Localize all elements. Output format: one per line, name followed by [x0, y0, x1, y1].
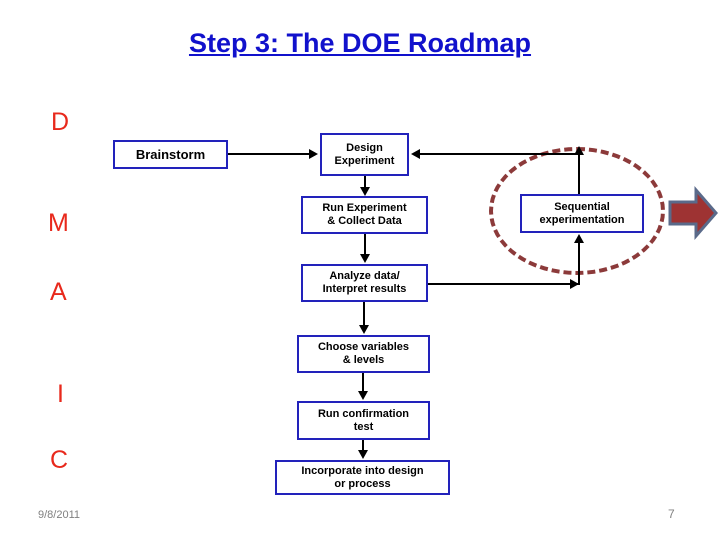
connector-brainstorm-to-design: [228, 153, 310, 155]
connector-analyze-to-loop-horizontal: [428, 283, 580, 285]
flow-box-analyze-data-line1: Analyze data/: [319, 270, 411, 283]
arrowhead-confirmation-to-incorporate: [358, 450, 368, 459]
phase-letter-improve: I: [57, 382, 64, 407]
flow-box-design-experiment-line1: Design: [331, 142, 399, 155]
arrowhead-brainstorm-to-design: [309, 149, 318, 159]
flow-box-design-experiment-line2: Experiment: [331, 155, 399, 168]
flow-box-choose-variables-line1: Choose variables: [314, 341, 413, 354]
flow-box-brainstorm[interactable]: Brainstorm: [113, 140, 228, 169]
flow-box-incorporate[interactable]: Incorporate into design or process: [275, 460, 450, 495]
flow-box-run-experiment[interactable]: Run Experiment & Collect Data: [301, 196, 428, 234]
page-title: Step 3: The DOE Roadmap: [0, 28, 720, 59]
phase-letter-define: D: [51, 110, 69, 135]
flow-box-incorporate-line1: Incorporate into design: [297, 465, 427, 478]
phase-letter-analyze: A: [50, 280, 67, 305]
connector-choose-to-confirmation: [362, 373, 364, 391]
flow-box-sequential-line2: experimentation: [536, 214, 629, 227]
phase-letter-measure: M: [48, 211, 69, 236]
flow-box-run-experiment-line2: & Collect Data: [318, 215, 410, 228]
arrowhead-choose-to-confirmation: [358, 391, 368, 400]
phase-letter-control: C: [50, 448, 68, 473]
flow-box-run-confirmation-line2: test: [314, 421, 413, 434]
flow-box-brainstorm-line1: Brainstorm: [132, 147, 209, 162]
arrowhead-run-to-analyze: [360, 254, 370, 263]
arrowhead-analyze-to-loop: [570, 279, 579, 289]
flow-box-sequential-line1: Sequential: [536, 201, 629, 214]
flow-box-sequential-experimentation[interactable]: Sequential experimentation: [520, 194, 644, 233]
arrowhead-design-to-run: [360, 187, 370, 196]
arrowhead-loop-back-to-design: [411, 149, 420, 159]
connector-sequential-up: [578, 154, 580, 196]
flow-box-run-confirmation[interactable]: Run confirmation test: [297, 401, 430, 440]
arrowhead-sequential-up: [574, 146, 584, 155]
flow-box-run-experiment-line1: Run Experiment: [318, 202, 410, 215]
connector-loop-back-to-design-horizontal: [420, 153, 580, 155]
flow-box-analyze-data[interactable]: Analyze data/ Interpret results: [301, 264, 428, 302]
flow-box-incorporate-line2: or process: [297, 478, 427, 491]
arrowhead-loop-up-to-sequential: [574, 234, 584, 243]
flow-box-run-confirmation-line1: Run confirmation: [314, 408, 413, 421]
arrowhead-analyze-to-choose: [359, 325, 369, 334]
footer-date: 9/8/2011: [38, 509, 80, 521]
connector-run-to-analyze: [364, 234, 366, 254]
flow-box-design-experiment[interactable]: Design Experiment: [320, 133, 409, 176]
slide-canvas: Step 3: The DOE Roadmap D M A I C Brains…: [0, 0, 720, 540]
flow-box-choose-variables-line2: & levels: [314, 354, 413, 367]
flow-box-analyze-data-line2: Interpret results: [319, 283, 411, 296]
result-block-arrow: [668, 186, 718, 240]
flow-box-choose-variables[interactable]: Choose variables & levels: [297, 335, 430, 373]
connector-analyze-to-choose: [363, 302, 365, 325]
footer-page-number: 7: [668, 507, 675, 521]
